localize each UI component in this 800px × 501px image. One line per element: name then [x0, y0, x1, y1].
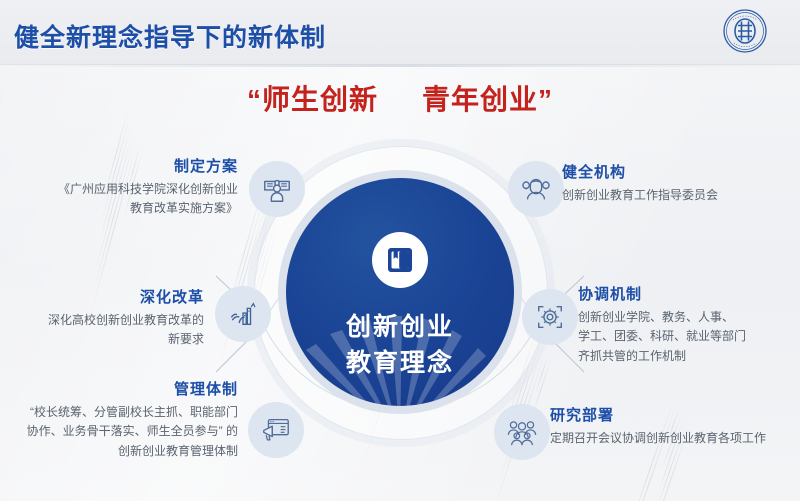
group-people-icon [506, 416, 538, 448]
university-emblem-icon [722, 8, 768, 54]
node-heading: 研究部署 [550, 404, 800, 425]
node-body: 《广州应用科技学院深化创新创业 教育改革实施方案》 [0, 180, 238, 219]
node-body: 深化高校创新创业教育改革的 新要求 [0, 311, 204, 350]
slide-canvas: 健全新理念指导下的新体制 “师生创新 青年创业” [0, 0, 800, 501]
hub-label-line1: 创新创业 [286, 310, 514, 346]
node-heading: 协调机制 [578, 283, 800, 304]
node-heading: 制定方案 [0, 155, 238, 176]
node-text: 制定方案 《广州应用科技学院深化创新创业 教育改革实施方案》 [0, 155, 238, 219]
node-body: 创新创业学院、教务、人事、 学工、团委、科研、就业等部门 齐抓共管的工作机制 [578, 308, 800, 366]
node-icon-bubble [215, 286, 271, 342]
slide-header: 健全新理念指导下的新体制 [0, 0, 800, 65]
node-text: 协调机制 创新创业学院、教务、人事、 学工、团委、科研、就业等部门 齐抓共管的工… [578, 283, 800, 366]
hub-label: 创新创业 教育理念 [286, 310, 514, 381]
node-icon-bubble [508, 161, 564, 217]
page-title: 健全新理念指导下的新体制 [14, 18, 326, 54]
node-icon-bubble [249, 161, 305, 217]
hub-inner-disc: 创新创业 教育理念 [286, 178, 514, 406]
node-body: “校长统筹、分管副校长主抓、职能部门 协作、业务骨干落实、师生全员参与” 的 创… [0, 403, 238, 461]
node-text: 管理体制 “校长统筹、分管副校长主抓、职能部门 协作、业务骨干落实、师生全员参与… [0, 378, 238, 461]
person-with-gears-icon [520, 173, 552, 205]
node-text: 研究部署 定期召开会议协调创新创业教育各项工作 [550, 404, 800, 448]
node-heading: 健全机构 [562, 161, 800, 182]
node-heading: 管理体制 [0, 378, 238, 399]
megaphone-browser-icon [260, 414, 292, 446]
node-body: 创新创业教育工作指导委员会 [562, 186, 800, 205]
node-text: 深化改革 深化高校创新创业教育改革的 新要求 [0, 286, 204, 350]
hub-label-line2: 教育理念 [286, 346, 514, 382]
target-gear-icon [534, 301, 566, 333]
node-icon-bubble [494, 404, 550, 460]
node-heading: 深化改革 [0, 286, 204, 307]
person-with-book-icon [261, 173, 293, 205]
node-icon-bubble [522, 289, 578, 345]
node-text: 健全机构 创新创业教育工作指导委员会 [562, 161, 800, 205]
hand-growth-chart-icon [227, 298, 259, 330]
node-body: 定期召开会议协调创新创业教育各项工作 [550, 429, 800, 448]
subtitle-slogan: “师生创新 青年创业” [0, 78, 800, 118]
hub-book-icon [372, 232, 428, 288]
node-icon-bubble [248, 402, 304, 458]
